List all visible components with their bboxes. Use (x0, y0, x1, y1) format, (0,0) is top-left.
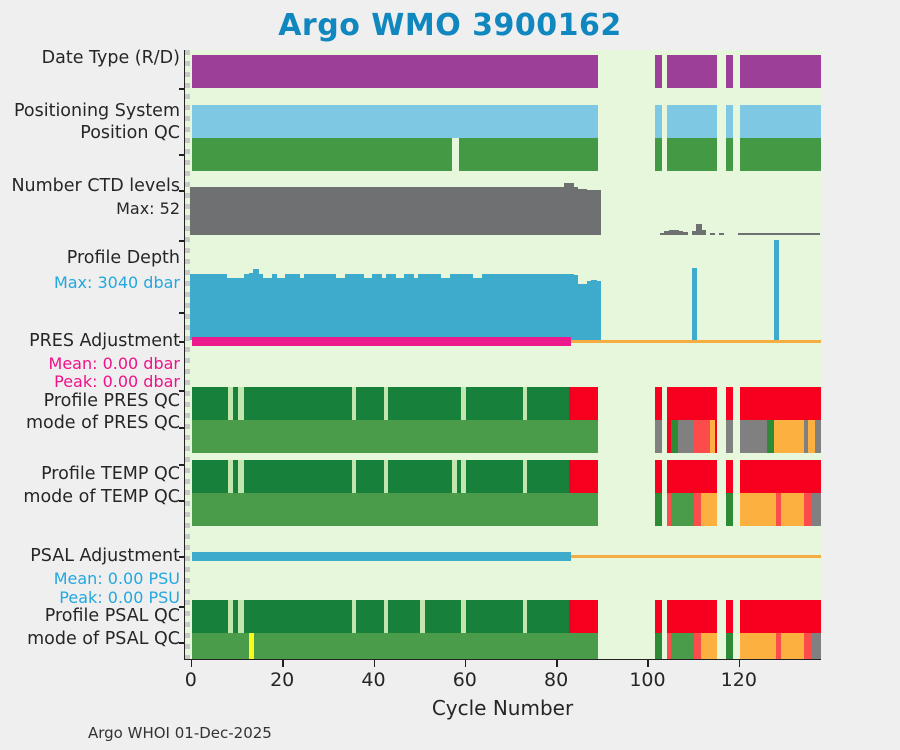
series-span-profile-temp-qc (527, 460, 568, 493)
row-label-mode-of-psal-qc: mode of PSAL QC (2, 629, 184, 650)
x-axis-label: Cycle Number (184, 696, 821, 720)
series-span-mode-of-temp-qc (694, 493, 701, 526)
series-span-profile-pres-qc (388, 387, 461, 420)
x-axis-tick (647, 660, 649, 667)
row-label-date-type: Date Type (R/D) (2, 48, 184, 69)
series-span-mode-of-pres-qc (678, 420, 694, 453)
series-span-position-qc (192, 138, 452, 171)
series-span-positioning-system (667, 105, 717, 138)
series-span-profile-psal-qc (527, 600, 568, 633)
series-span-profile-temp-qc (356, 460, 383, 493)
series-span-profile-psal-qc (192, 600, 229, 633)
series-bar-number-ctd-levels (719, 233, 724, 235)
series-span-mode-of-psal-qc (694, 633, 701, 659)
series-span-profile-temp-qc (569, 460, 599, 493)
row-label-number-ctd-levels: Number CTD levels (2, 176, 184, 197)
plot-area (184, 50, 821, 660)
row-label-pres-adjustment-sub2: Peak: 0.00 dbar (2, 371, 184, 392)
row-label-mode-of-temp-qc: mode of TEMP QC (2, 487, 184, 508)
row-label-pres-adjustment: PRES Adjustment (2, 331, 184, 352)
series-span-profile-pres-qc (356, 387, 383, 420)
series-span-profile-temp-qc (244, 460, 351, 493)
series-span-mode-of-pres-qc (808, 420, 815, 453)
series-span-profile-psal-qc (388, 600, 420, 633)
row-label-number-ctd-levels-sub1: Max: 52 (2, 198, 184, 219)
series-span-profile-pres-qc (667, 387, 717, 420)
series-span-profile-psal-qc (466, 600, 523, 633)
series-span-profile-psal-qc (655, 600, 662, 633)
y-tick (179, 341, 185, 343)
series-span-profile-pres-qc (655, 387, 662, 420)
y-tick (179, 427, 185, 429)
row-label-profile-psal-qc: Profile PSAL QC (2, 606, 184, 627)
series-span-profile-temp-qc (388, 460, 452, 493)
x-axis-tick (556, 660, 558, 667)
row-label-psal-adjustment: PSAL Adjustment (2, 546, 184, 567)
series-span-profile-psal-qc (356, 600, 383, 633)
y-tick (179, 240, 185, 242)
series-span-mode-of-temp-qc (811, 493, 821, 526)
x-axis-tick (739, 660, 741, 667)
series-span-mode-of-psal-qc (781, 633, 804, 659)
x-axis-tick-label: 100 (629, 669, 665, 691)
series-span-profile-temp-qc (192, 460, 229, 493)
series-span-mode-of-pres-qc (740, 420, 767, 453)
series-span-profile-pres-qc (244, 387, 351, 420)
series-span-profile-pres-qc (569, 387, 599, 420)
y-tick (179, 190, 185, 192)
series-span-date-type (655, 55, 662, 88)
series-span-mode-of-pres-qc (671, 420, 678, 453)
series-span-mode-of-pres-qc (192, 420, 598, 453)
y-tick (179, 88, 185, 90)
y-tick (179, 642, 185, 644)
series-span-mode-of-temp-qc (655, 493, 662, 526)
series-line-psal-adjustment (571, 555, 821, 558)
footer-credit: Argo WHOI 01-Dec-2025 (88, 724, 272, 742)
row-label-mode-of-pres-qc: mode of PRES QC (2, 413, 184, 434)
y-tick (179, 390, 185, 392)
y-tick (179, 500, 185, 502)
x-axis-tick-label: 80 (544, 669, 568, 691)
series-span-positioning-system (740, 105, 821, 138)
series-bar-number-ctd-levels (596, 190, 601, 235)
series-span-mode-of-temp-qc (740, 493, 777, 526)
series-span-profile-temp-qc (238, 460, 245, 493)
plot-clip (185, 50, 821, 659)
series-span-profile-temp-qc (740, 460, 821, 493)
series-bar-number-ctd-levels (815, 233, 820, 235)
series-span-mode-of-psal-qc (804, 633, 811, 659)
series-bar-number-ctd-levels (701, 230, 706, 235)
series-span-mode-of-temp-qc (701, 493, 717, 526)
series-span-mode-of-psal-qc (726, 633, 733, 659)
series-span-mode-of-temp-qc (726, 493, 733, 526)
x-axis-tick-label: 0 (185, 669, 197, 691)
y-tick (179, 154, 185, 156)
series-span-mode-of-temp-qc (671, 493, 694, 526)
series-bar-number-ctd-levels (710, 233, 715, 235)
series-span-mode-of-temp-qc (781, 493, 804, 526)
series-span-mode-of-psal-qc (192, 633, 249, 659)
series-line-pres-adjustment (571, 340, 821, 343)
series-span-date-type (667, 55, 717, 88)
series-span-profile-psal-qc (667, 600, 717, 633)
x-axis-tick-label: 120 (721, 669, 757, 691)
x-axis-tick (191, 660, 193, 667)
series-span-mode-of-pres-qc (726, 420, 733, 453)
series-span-mode-of-psal-qc (671, 633, 694, 659)
series-span-position-qc (459, 138, 598, 171)
y-tick (179, 556, 185, 558)
row-label-profile-depth: Profile Depth (2, 248, 184, 269)
x-axis-tick-label: 40 (361, 669, 385, 691)
series-span-mode-of-psal-qc (701, 633, 717, 659)
series-span-profile-pres-qc (527, 387, 568, 420)
series-span-mode-of-psal-qc (655, 633, 662, 659)
series-span-mode-of-pres-qc (694, 420, 710, 453)
series-span-mode-of-pres-qc (767, 420, 774, 453)
series-span-mode-of-temp-qc (192, 493, 598, 526)
x-axis: 020406080100120 (184, 660, 821, 700)
row-label-psal-adjustment-sub2: Peak: 0.00 PSU (2, 587, 184, 608)
series-span-date-type (726, 55, 733, 88)
y-tick (179, 312, 185, 314)
series-line-pres-adjustment (192, 337, 571, 346)
series-span-profile-psal-qc (569, 600, 599, 633)
series-span-profile-psal-qc (740, 600, 821, 633)
series-span-mode-of-pres-qc (815, 420, 821, 453)
series-bar-number-ctd-levels (683, 232, 688, 235)
series-span-profile-pres-qc (192, 387, 229, 420)
series-bar-profile-depth (596, 281, 601, 340)
series-bar-profile-depth (692, 268, 697, 340)
series-span-mode-of-psal-qc (811, 633, 821, 659)
series-span-date-type (192, 55, 598, 88)
series-span-mode-of-pres-qc (774, 420, 804, 453)
row-label-position-qc: Position QC (2, 123, 184, 144)
series-span-mode-of-pres-qc (655, 420, 662, 453)
series-span-positioning-system (192, 105, 598, 138)
series-span-profile-temp-qc (726, 460, 733, 493)
x-axis-tick-label: 60 (453, 669, 477, 691)
series-span-mode-of-psal-qc (740, 633, 777, 659)
series-span-profile-pres-qc (740, 387, 821, 420)
series-span-position-qc (667, 138, 717, 171)
argo-float-summary-plot: Argo WMO 3900162 Date Type (R/D)Position… (0, 0, 900, 750)
series-span-positioning-system (655, 105, 662, 138)
series-span-mode-of-pres-qc (715, 420, 717, 453)
row-label-profile-temp-qc: Profile TEMP QC (2, 464, 184, 485)
x-axis-tick (282, 660, 284, 667)
y-tick (179, 606, 185, 608)
row-label-profile-pres-qc: Profile PRES QC (2, 391, 184, 412)
row-label-profile-depth-sub1: Max: 3040 dbar (2, 272, 184, 293)
series-span-position-qc (726, 138, 733, 171)
reference-line-cycle-100 (185, 50, 190, 659)
series-span-profile-pres-qc (466, 387, 523, 420)
row-label-psal-adjustment-sub1: Mean: 0.00 PSU (2, 568, 184, 589)
series-span-profile-psal-qc (244, 600, 351, 633)
series-span-profile-temp-qc (466, 460, 523, 493)
x-axis-tick-label: 20 (270, 669, 294, 691)
series-span-date-type (740, 55, 821, 88)
y-tick (179, 464, 185, 466)
x-axis-tick (374, 660, 376, 667)
series-span-position-qc (740, 138, 821, 171)
series-bar-profile-depth (774, 240, 779, 340)
series-span-profile-psal-qc (425, 600, 462, 633)
series-span-profile-temp-qc (667, 460, 717, 493)
series-line-psal-adjustment (192, 552, 571, 561)
series-span-profile-temp-qc (655, 460, 662, 493)
series-span-mode-of-psal-qc (254, 633, 598, 659)
series-span-profile-psal-qc (726, 600, 733, 633)
series-span-positioning-system (726, 105, 733, 138)
row-label-positioning-system: Positioning System (2, 101, 184, 122)
series-span-position-qc (655, 138, 662, 171)
series-span-profile-pres-qc (726, 387, 733, 420)
series-span-mode-of-temp-qc (804, 493, 811, 526)
x-axis-tick (465, 660, 467, 667)
series-span-profile-pres-qc (238, 387, 245, 420)
row-label-column: Date Type (R/D)Positioning SystemPositio… (0, 0, 184, 750)
series-span-profile-psal-qc (238, 600, 245, 633)
